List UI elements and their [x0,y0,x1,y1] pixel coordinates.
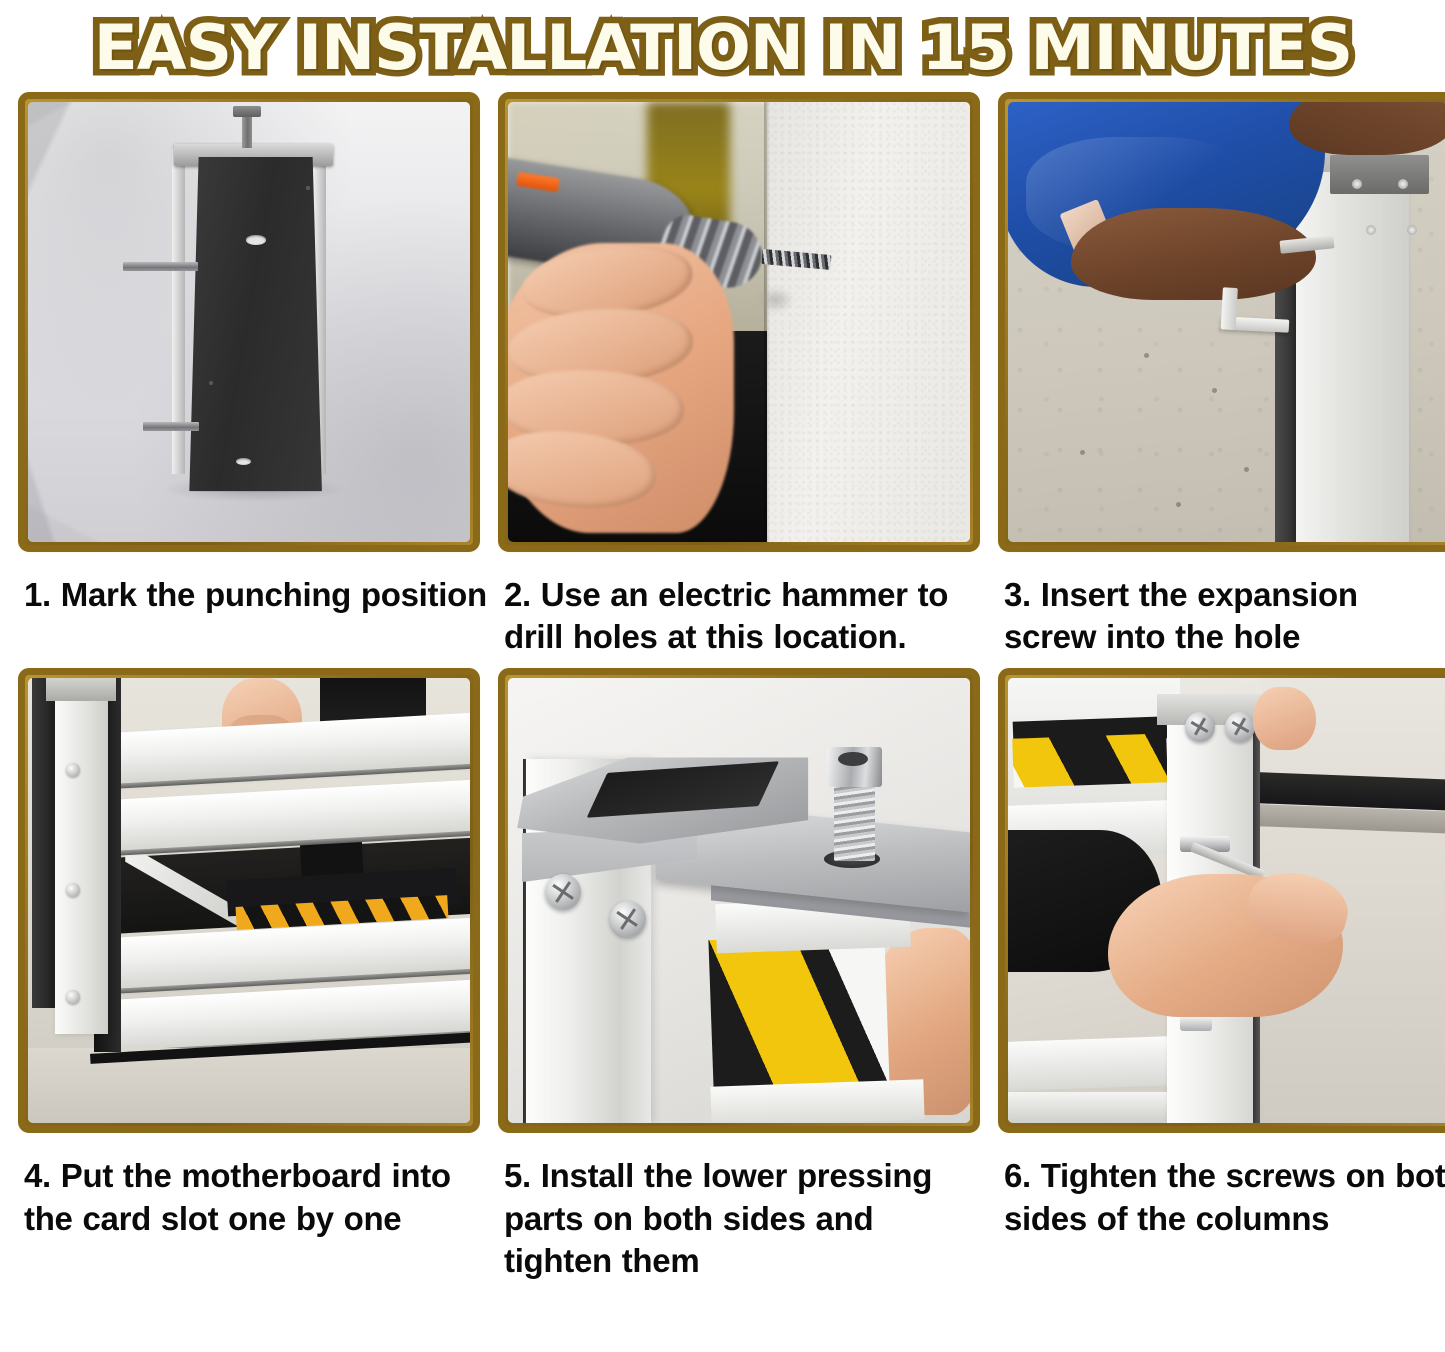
caption-line: 2. Use an electric hammer to [504,574,980,616]
caption-line: parts on both sides and [504,1198,980,1240]
caption-line: 4. Put the motherboard into [24,1155,480,1197]
step-card-2: 2. Use an electric hammer to drill holes… [498,92,980,658]
bracket-screw [610,901,646,937]
step-6-caption: 6. Tighten the screws on both sides of t… [998,1133,1445,1239]
surface-speck [306,186,310,190]
column-base-plate [1330,155,1430,195]
column-screw [66,990,80,1004]
step-card-4: 4. Put the motherboard into the card slo… [18,668,480,1282]
step-card-3: 3. Insert the expansion screw into the h… [998,92,1445,658]
plate-screw [1398,179,1408,189]
textured-wall [767,102,970,542]
step-5-frame [498,668,980,1133]
plate-screw [1366,225,1376,235]
caption-line: screw into the hole [1004,616,1445,658]
side-screw-lower [1180,1017,1212,1031]
top-bolt-head [233,106,261,117]
steps-row-bottom: 4. Put the motherboard into the card slo… [8,668,1437,1282]
caption-line: drill holes at this location. [504,616,980,658]
hazard-stripe [709,934,890,1091]
step-card-1: 1. Mark the punching position [18,92,480,658]
white-column-with-slot [55,678,108,1034]
caption-line: 3. Insert the expansion [1004,574,1445,616]
floor-speck [1144,353,1149,358]
caption-line: sides of the columns [1004,1198,1445,1240]
bolt-threaded-shaft [834,785,876,861]
bracket-screw [545,874,581,910]
step-3-caption: 3. Insert the expansion screw into the h… [998,552,1445,658]
installation-guide-poster: EASY INSTALLATION IN 15 MINUTES [0,0,1445,1352]
step-2-caption: 2. Use an electric hammer to drill holes… [498,552,980,658]
column-cap [46,678,117,700]
floor-speck [1244,467,1249,472]
step-3-photo-insert-expansion-screw [1008,102,1445,542]
step-6-photo-tighten-screws [1008,678,1445,1123]
side-stud-lower [143,422,200,430]
page-title: EASY INSTALLATION IN 15 MINUTES [93,17,1351,79]
plate-screw [1407,225,1417,235]
barrier-board-lower [711,1080,925,1124]
caption-line: 5. Install the lower pressing [504,1155,980,1197]
column-top-screw [1185,712,1215,742]
step-1-caption: 1. Mark the punching position [18,552,480,616]
floor-speck [1212,388,1217,393]
step-4-frame [18,668,480,1133]
caption-line: 1. Mark the punching position [24,574,480,616]
hazard-stripe [1012,734,1168,788]
step-card-5: 5. Install the lower pressing parts on b… [498,668,980,1282]
step-2-frame [498,92,980,552]
side-stud-upper [123,262,198,270]
column-screw [66,763,80,777]
caption-line: tighten them [504,1240,980,1282]
barrier-board [1008,1092,1171,1123]
step-5-caption: 5. Install the lower pressing parts on b… [498,1133,980,1282]
barrier-board [1008,1036,1172,1091]
step-6-frame [998,668,1445,1133]
step-3-frame [998,92,1445,552]
step-5-photo-lower-pressing-parts [508,678,970,1123]
dark-column-template [189,157,322,491]
steps-row-top: 1. Mark the punching position [8,92,1437,658]
worker-upper-arm [1289,102,1445,155]
drill-dust [757,287,794,313]
mounting-hole-upper [246,235,266,245]
worker-forearm [1071,208,1316,300]
step-4-photo-insert-boards [28,678,470,1123]
caption-line: the card slot one by one [24,1198,480,1240]
title-bar: EASY INSTALLATION IN 15 MINUTES [8,0,1437,92]
step-4-caption: 4. Put the motherboard into the card slo… [18,1133,480,1239]
step-2-photo-drill-holes [508,102,970,542]
caption-line: 6. Tighten the screws on both [1004,1155,1445,1197]
second-hand [1253,687,1316,749]
step-1-frame [18,92,480,552]
step-card-6: 6. Tighten the screws on both sides of t… [998,668,1445,1282]
step-1-photo-mark-punching-position [28,102,470,542]
